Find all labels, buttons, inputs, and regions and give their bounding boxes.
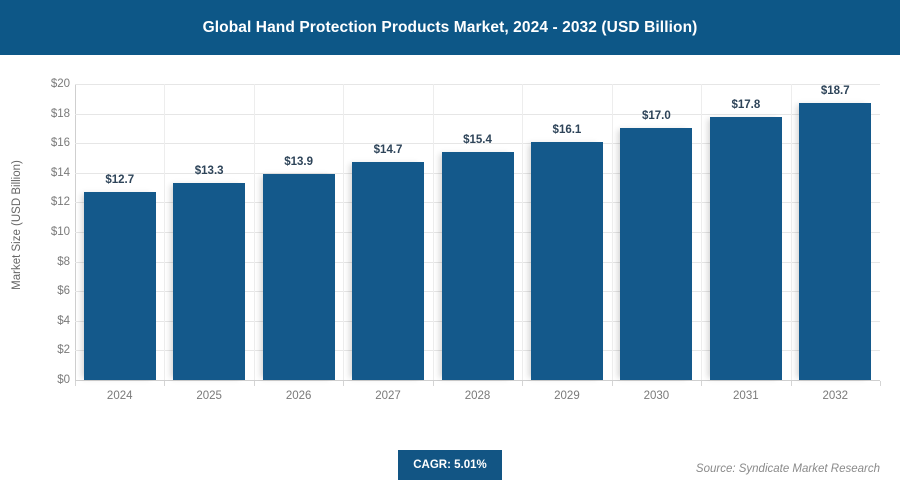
y-axis-tick-labels: $0$2$4$6$8$10$12$14$16$18$20 (30, 84, 70, 380)
y-axis-tick-label: $16 (51, 137, 70, 149)
plot-area: $12.7$13.3$13.9$14.7$15.4$16.1$17.0$17.8… (75, 84, 880, 380)
bar-group[interactable]: $18.7 (799, 84, 871, 380)
x-axis-tick (522, 381, 523, 386)
bar-value-label: $17.0 (642, 110, 671, 122)
bar-value-label: $13.3 (195, 165, 224, 177)
bar[interactable] (710, 117, 782, 380)
bar-series: $12.7$13.3$13.9$14.7$15.4$16.1$17.0$17.8… (75, 84, 880, 380)
y-axis-tick-label: $6 (57, 285, 70, 297)
source-note: Source: Syndicate Market Research (696, 463, 880, 475)
bar[interactable] (799, 103, 871, 380)
bar-value-label: $12.7 (105, 174, 134, 186)
bar-value-label: $15.4 (463, 134, 492, 146)
bar[interactable] (620, 128, 692, 380)
cagr-badge: CAGR: 5.01% (398, 450, 502, 480)
bar-group[interactable]: $13.9 (263, 84, 335, 380)
bar[interactable] (263, 174, 335, 380)
bar[interactable] (84, 192, 156, 380)
bar-group[interactable]: $13.3 (173, 84, 245, 380)
chart-figure: Global Hand Protection Products Market, … (0, 0, 900, 500)
bar-group[interactable]: $15.4 (442, 84, 514, 380)
page-title: Global Hand Protection Products Market, … (0, 0, 900, 55)
x-axis-tick-label: 2028 (465, 390, 491, 402)
y-axis-tick-label: $4 (57, 315, 70, 327)
bar-group[interactable]: $12.7 (84, 84, 156, 380)
x-axis-tick (880, 381, 881, 386)
y-axis-tick-label: $2 (57, 344, 70, 356)
x-axis-tick-label: 2032 (822, 390, 848, 402)
x-axis-tick (791, 381, 792, 386)
bar[interactable] (531, 142, 603, 380)
bar-value-label: $16.1 (553, 124, 582, 136)
x-axis-tick (612, 381, 613, 386)
bar-value-label: $18.7 (821, 85, 850, 97)
y-axis-tick-label: $0 (57, 374, 70, 386)
y-axis-tick-label: $20 (51, 78, 70, 90)
y-axis-tick-label: $10 (51, 226, 70, 238)
bar-group[interactable]: $14.7 (352, 84, 424, 380)
x-axis-tick (75, 381, 76, 386)
x-axis-tick (343, 381, 344, 386)
x-axis-tick-label: 2024 (107, 390, 133, 402)
y-axis-title: Market Size (USD Billion) (4, 70, 30, 380)
x-axis-tick-label: 2031 (733, 390, 759, 402)
bar-group[interactable]: $16.1 (531, 84, 603, 380)
y-axis-tick-label: $14 (51, 167, 70, 179)
x-axis-tick-label: 2025 (196, 390, 222, 402)
y-axis-tick-label: $18 (51, 108, 70, 120)
x-axis-tick-label: 2030 (644, 390, 670, 402)
bar[interactable] (442, 152, 514, 380)
x-axis-tick-labels: 202420252026202720282029203020312032 (75, 390, 880, 410)
bar-value-label: $14.7 (374, 144, 403, 156)
bar[interactable] (352, 162, 424, 380)
x-axis-tick (164, 381, 165, 386)
bar-value-label: $13.9 (284, 156, 313, 168)
x-axis-tick-label: 2026 (286, 390, 312, 402)
bar-value-label: $17.8 (731, 99, 760, 111)
bar-group[interactable]: $17.0 (620, 84, 692, 380)
x-axis-tick (433, 381, 434, 386)
bar[interactable] (173, 183, 245, 380)
x-axis-tick-label: 2027 (375, 390, 401, 402)
y-axis-tick-label: $8 (57, 256, 70, 268)
y-axis-title-label: Market Size (USD Billion) (11, 160, 23, 290)
x-axis-tick (254, 381, 255, 386)
x-axis-tick (701, 381, 702, 386)
x-axis-tick-label: 2029 (554, 390, 580, 402)
bar-group[interactable]: $17.8 (710, 84, 782, 380)
y-axis-tick-label: $12 (51, 196, 70, 208)
x-axis-ticks (75, 381, 880, 387)
